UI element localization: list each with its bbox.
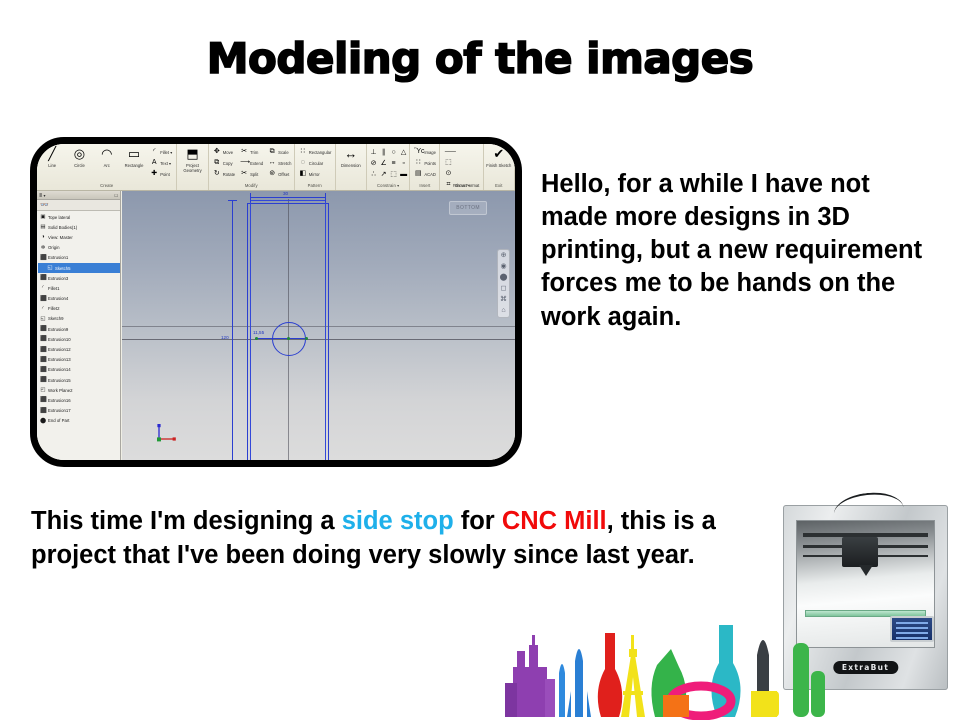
tree-node-label: Extrusion4 bbox=[48, 296, 68, 301]
tree-node[interactable]: ◜Fillet1 bbox=[38, 283, 120, 293]
points-icon: ∷ bbox=[414, 159, 422, 167]
ribbon-panel-body: ↔Dimension bbox=[338, 145, 364, 181]
fillet-button[interactable]: ◜Fillet ▾ bbox=[148, 147, 174, 157]
ribbon-panel-body: ✔Finish Sketch bbox=[486, 145, 512, 181]
ribbon-button-label: Project Geometry bbox=[179, 163, 205, 173]
tree-node-label: Extrusion17 bbox=[48, 408, 71, 413]
browser-panel-title: ≣ ▾ bbox=[39, 193, 45, 198]
ribbon-button-label: Dimension bbox=[341, 163, 361, 168]
circular-pattern-button[interactable]: ◌Circular bbox=[297, 158, 334, 168]
dimension-line-diameter bbox=[255, 338, 307, 339]
ribbon-panel-body: ⬒Project Geometry bbox=[179, 145, 205, 181]
ribbon-panel-body: ⊥∥○△⊘∠≡▫∴↗⬚▬ bbox=[369, 145, 407, 181]
copy-button[interactable]: ⧉Copy bbox=[211, 158, 237, 168]
model-browser-panel[interactable]: ≣ ▾ ☐ 👓 ▣Tope lateral▤Solid Bodies(1)◑Vi… bbox=[37, 191, 121, 460]
tree-node-label: End of Part bbox=[48, 418, 70, 423]
image-icon: Ὓc bbox=[414, 148, 422, 156]
cad-application-window: ╱Line◎Circle◠Arc▭Rectangle◜Fillet ▾AText… bbox=[37, 144, 515, 460]
extrusion-icon: ⬛ bbox=[40, 336, 46, 342]
tree-node-label: Extrusion15 bbox=[48, 378, 71, 383]
ribbon-button-label: ACAD bbox=[424, 172, 436, 177]
end-of-part-icon: ⬤ bbox=[40, 418, 46, 424]
ribbon-panel-body: ╱Line◎Circle◠Arc▭Rectangle◜Fillet ▾AText… bbox=[39, 145, 174, 181]
circular-pattern-icon: ◌ bbox=[299, 159, 307, 167]
extrusion-icon: ⬛ bbox=[40, 397, 46, 403]
acad-icon: ▤ bbox=[414, 170, 422, 178]
ribbon-panel-group-4: ↔Dimension bbox=[336, 144, 367, 190]
printer-brand-logo: ExtraBut bbox=[833, 661, 898, 674]
extrusion-icon: ⬛ bbox=[40, 347, 46, 353]
ribbon-button-column: ✂Trim⟶Extend✂Split bbox=[238, 145, 265, 179]
rotate-button[interactable]: ↻Rotate bbox=[211, 169, 237, 179]
extend-button[interactable]: ⟶Extend bbox=[238, 158, 265, 168]
extrusion-icon: ⬛ bbox=[40, 275, 46, 281]
constraint-icon-11[interactable]: ▬ bbox=[399, 170, 408, 180]
printed-object-cactus-green bbox=[793, 643, 825, 717]
tree-node[interactable]: ◜Fillet2 bbox=[38, 304, 120, 314]
printed-object-eiffel-tower bbox=[621, 635, 645, 717]
offset-icon: ⊚ bbox=[268, 170, 276, 178]
constraint-icon-7[interactable]: ▫ bbox=[399, 159, 408, 169]
dimension-icon: ↔ bbox=[344, 147, 357, 161]
fillet-icon: ◜ bbox=[40, 306, 46, 312]
text-icon: A bbox=[150, 159, 158, 167]
extend-icon: ⟶ bbox=[240, 159, 248, 167]
extrusion-icon: ⬛ bbox=[40, 367, 46, 373]
ribbon-button-label: Extend bbox=[250, 161, 263, 166]
tree-node[interactable]: ▣Tope lateral bbox=[38, 212, 120, 222]
arc-button[interactable]: ◠Arc bbox=[94, 145, 120, 168]
printed-object-block-orange bbox=[663, 695, 689, 717]
sketch-icon: ◱ bbox=[40, 316, 46, 322]
constraint-icon-1[interactable]: ∥ bbox=[379, 148, 388, 158]
dimension-button[interactable]: ↔Dimension bbox=[338, 145, 364, 168]
nav-tool-3-icon[interactable]: ◻ bbox=[501, 285, 507, 293]
fillet-icon: ◜ bbox=[40, 285, 46, 291]
ribbon-panel-label: Pattern bbox=[297, 182, 333, 190]
constraint-icon-0[interactable]: ⊥ bbox=[369, 148, 378, 158]
line-button[interactable]: ╱Line bbox=[39, 145, 65, 168]
navigation-bar[interactable]: ⊕◉⬤◻⌘⌂ bbox=[497, 249, 510, 318]
tree-node[interactable]: ⬛Extrusion13 bbox=[38, 355, 120, 365]
driven-dim-button[interactable]: ⊙ bbox=[442, 169, 481, 179]
circle-button[interactable]: ◎Circle bbox=[66, 145, 92, 168]
ribbon-button-label: Offset bbox=[278, 172, 289, 177]
rectangular-pattern-button[interactable]: ∷Rectangular bbox=[297, 147, 334, 157]
tree-node[interactable]: ⬛Extrusion1 bbox=[38, 253, 120, 263]
ribbon-button-label: Points bbox=[424, 161, 436, 166]
arc-icon: ◠ bbox=[101, 147, 112, 161]
tree-node[interactable]: ⬛Extrusion3 bbox=[38, 273, 120, 283]
tree-node-label: Extrusion3 bbox=[48, 276, 68, 281]
point-button[interactable]: ✚Point bbox=[148, 169, 174, 179]
ribbon-toolbar[interactable]: ╱Line◎Circle◠Arc▭Rectangle◜Fillet ▾AText… bbox=[37, 144, 515, 191]
constraint-icon-9[interactable]: ↗ bbox=[379, 170, 388, 180]
ribbon-button-label: Trim bbox=[250, 150, 258, 155]
text-button[interactable]: AText ▾ bbox=[148, 158, 174, 168]
dimension-value-diameter[interactable]: 11,55 bbox=[253, 330, 264, 335]
view-orientation-label: BOTTOM bbox=[449, 201, 487, 215]
dimension-tick-left bbox=[250, 193, 251, 202]
browser-search-row[interactable]: 👓 bbox=[37, 200, 120, 211]
tree-node[interactable]: ▤Solid Bodies(1) bbox=[38, 222, 120, 232]
tree-node[interactable]: ⬛Extrusion14 bbox=[38, 365, 120, 375]
tree-node-label: Extrusion1 bbox=[48, 255, 68, 260]
ribbon-button-label: Stretch bbox=[278, 161, 291, 166]
tree-node-label: Solid Bodies(1) bbox=[48, 225, 77, 230]
ribbon-panel-body: ∷Rectangular◌Circular◧Mirror bbox=[297, 145, 333, 181]
dimension-value-width[interactable]: 30 bbox=[283, 191, 288, 196]
tree-node[interactable]: ⬛Extrusion17 bbox=[38, 406, 120, 416]
tree-node-label: Fillet1 bbox=[48, 286, 59, 291]
tree-node[interactable]: ⬛Extrusion12 bbox=[38, 344, 120, 354]
constraint-icon-5[interactable]: ∠ bbox=[379, 159, 388, 169]
nav-tool-1-icon[interactable]: ◉ bbox=[500, 263, 506, 271]
ribbon-panel-exit: ✔Finish SketchExit bbox=[484, 144, 515, 190]
tree-node-label: View: Master bbox=[48, 235, 73, 240]
tree-node[interactable]: ◱Sketch5 bbox=[38, 263, 120, 273]
circle-icon: ◎ bbox=[74, 147, 85, 161]
printed-object-basket-yellow bbox=[751, 691, 779, 717]
extrusion-icon: ⬛ bbox=[40, 408, 46, 414]
offset-button[interactable]: ⊚Offset bbox=[266, 169, 293, 179]
ribbon-button-label: Mirror bbox=[309, 172, 320, 177]
point-icon: ✚ bbox=[150, 170, 158, 178]
line-icon: ╱ bbox=[48, 147, 56, 161]
stretch-icon: ↔ bbox=[268, 159, 276, 167]
ribbon-panel-insert: ὛcImage∷Points▤ACADInsert bbox=[410, 144, 440, 190]
project-text-part2: for bbox=[454, 507, 502, 535]
dimension-value-height[interactable]: 120 bbox=[221, 335, 229, 340]
rotate-icon: ↻ bbox=[213, 170, 221, 178]
ribbon-panel-pattern: ∷Rectangular◌Circular◧MirrorPattern bbox=[295, 144, 336, 190]
trim-icon: ✂ bbox=[240, 148, 248, 156]
view-icon: ◑ bbox=[40, 234, 46, 240]
origin-icon: ✲ bbox=[40, 245, 46, 251]
tree-node-label: Sketch5 bbox=[55, 266, 71, 271]
tree-node-label: Extrusion9 bbox=[48, 327, 68, 332]
printed-object-vase-red bbox=[598, 633, 622, 717]
construction-button[interactable]: ⬚ bbox=[442, 158, 481, 168]
driven-dim-icon: ⊙ bbox=[444, 170, 452, 178]
cad-screenshot-card: ╱Line◎Circle◠Arc▭Rectangle◜Fillet ▾AText… bbox=[30, 137, 522, 467]
constraint-icon-6[interactable]: ≡ bbox=[389, 159, 398, 169]
tree-node-label: Extrusion12 bbox=[48, 347, 71, 352]
axis-triad-icon bbox=[154, 420, 180, 444]
ribbon-button-label: Scale bbox=[278, 150, 288, 155]
ribbon-panel-body: ὛcImage∷Points▤ACAD bbox=[412, 145, 437, 181]
tree-node[interactable]: ⬤End of Part bbox=[38, 416, 120, 426]
printer-lcd-screen bbox=[890, 616, 934, 642]
project-geometry-icon: ⬒ bbox=[186, 147, 198, 161]
tree-node[interactable]: ✲Origin bbox=[38, 243, 120, 253]
acad-button[interactable]: ▤ACAD bbox=[412, 169, 438, 179]
tree-node-label: Extrusion14 bbox=[48, 367, 71, 372]
tree-node-label: Work Plane2 bbox=[48, 388, 73, 393]
extrusion-icon: ⬛ bbox=[40, 377, 46, 383]
move-icon: ✥ bbox=[213, 148, 221, 156]
dimension-line-height bbox=[232, 200, 233, 460]
extrusion-icon: ⬛ bbox=[40, 296, 46, 302]
ribbon-button-label: Circular bbox=[309, 161, 323, 166]
ribbon-panel-label bbox=[179, 182, 205, 190]
dimension-tick-top bbox=[228, 200, 237, 201]
ribbon-button-label: Fillet ▾ bbox=[160, 150, 172, 155]
ribbon-button-column: ◜Fillet ▾AText ▾✚Point bbox=[148, 145, 174, 179]
tree-node[interactable]: ⬛Extrusion10 bbox=[38, 334, 120, 344]
ribbon-panel-label: Insert bbox=[412, 182, 437, 190]
construction-icon: ⬚ bbox=[444, 159, 452, 167]
centerline-button[interactable]: ⸺ bbox=[442, 147, 481, 157]
work-plane-icon: ◰ bbox=[40, 387, 46, 393]
highlight-side-stop: side stop bbox=[342, 507, 454, 535]
ribbon-panel-label: Modify bbox=[211, 182, 292, 190]
sketch-point-left[interactable] bbox=[255, 337, 258, 340]
centerline-icon: ⸺ bbox=[444, 148, 452, 156]
printed-object-rocket bbox=[559, 649, 591, 717]
ribbon-button-label: Line bbox=[48, 163, 56, 168]
constraint-icon-3[interactable]: △ bbox=[399, 148, 408, 158]
ribbon-button-label: Text ▾ bbox=[160, 161, 171, 166]
tree-node-label: Extrusion13 bbox=[48, 357, 71, 362]
ribbon-panel-format: ⸺⬚⊙⌗Show FormatFormat ▾ bbox=[440, 144, 483, 190]
ribbon-panel-body: ⸺⬚⊙⌗Show Format bbox=[442, 145, 480, 181]
project-geometry-button[interactable]: ⬒Project Geometry bbox=[179, 145, 205, 173]
ribbon-button-label: Copy bbox=[223, 161, 233, 166]
ribbon-button-label: Arc bbox=[104, 163, 110, 168]
constraint-icon-8[interactable]: ∴ bbox=[369, 170, 378, 180]
sketch-icon: ◱ bbox=[47, 265, 53, 271]
3d-printer-photo: ExtraBut bbox=[505, 500, 960, 720]
extrusion-icon: ⬛ bbox=[40, 255, 46, 261]
ribbon-button-label: Rectangular bbox=[309, 150, 332, 155]
constraint-icon-4[interactable]: ⊘ bbox=[369, 159, 378, 169]
rectangle-button[interactable]: ▭Rectangle bbox=[121, 145, 147, 168]
extrusion-icon: ⬛ bbox=[40, 326, 46, 332]
mirror-icon: ◧ bbox=[299, 170, 307, 178]
ribbon-button-column: ∷Rectangular◌Circular◧Mirror bbox=[297, 145, 334, 179]
image-button[interactable]: ὛcImage bbox=[412, 147, 438, 157]
tree-node[interactable]: ⬛Extrusion4 bbox=[38, 294, 120, 304]
ribbon-button-label: Rotate bbox=[223, 172, 235, 177]
points-button[interactable]: ∷Points bbox=[412, 158, 438, 168]
move-button[interactable]: ✥Move bbox=[211, 147, 237, 157]
nav-tool-5-icon[interactable]: ⌂ bbox=[501, 307, 505, 315]
tree-node-label: Origin bbox=[48, 245, 59, 250]
tree-node-label: Tope lateral bbox=[48, 215, 70, 220]
tree-node[interactable]: ◰Work Plane2 bbox=[38, 385, 120, 395]
ribbon-panel-label: Exit bbox=[486, 182, 512, 190]
sketch-point-right[interactable] bbox=[305, 337, 308, 340]
ribbon-panel-create: ╱Line◎Circle◠Arc▭Rectangle◜Fillet ▾AText… bbox=[37, 144, 177, 190]
ribbon-panel-body: ✥Move⧉Copy↻Rotate✂Trim⟶Extend✂Split⧉Scal… bbox=[211, 145, 292, 181]
extrusion-icon: ⬛ bbox=[40, 357, 46, 363]
scale-button[interactable]: ⧉Scale bbox=[266, 147, 293, 157]
split-button[interactable]: ✂Split bbox=[238, 169, 265, 179]
sketch-point-center[interactable] bbox=[287, 337, 290, 340]
printed-object-castle bbox=[505, 635, 555, 717]
constraint-icon-10[interactable]: ⬚ bbox=[389, 170, 398, 180]
graphics-viewport[interactable]: BOTTOM ⊕◉⬤◻⌘⌂ 30 120 11,55 bbox=[122, 191, 515, 460]
solid-bodies-icon: ▤ bbox=[40, 224, 46, 230]
tree-node[interactable]: ⬛Extrusion9 bbox=[38, 324, 120, 334]
nav-tool-2-icon[interactable]: ⬤ bbox=[500, 274, 508, 282]
copy-icon: ⧉ bbox=[213, 159, 221, 167]
tree-node[interactable]: ⬛Extrusion15 bbox=[38, 375, 120, 385]
page-title: Modeling of the images bbox=[0, 34, 960, 83]
dimension-line-width bbox=[250, 197, 326, 198]
ribbon-panel-label: Format ▾ bbox=[442, 182, 480, 190]
pin-icon[interactable]: ☐ bbox=[114, 193, 118, 198]
tree-node-label: Extrusion10 bbox=[48, 337, 71, 342]
rectangular-pattern-icon: ∷ bbox=[299, 148, 307, 156]
finish-sketch-icon: ✔ bbox=[493, 147, 504, 161]
browser-title-bar: ≣ ▾ ☐ bbox=[37, 191, 120, 200]
project-text-part1: This time I'm designing a bbox=[31, 507, 342, 535]
trim-button[interactable]: ✂Trim bbox=[238, 147, 265, 157]
printer-carriage bbox=[842, 537, 878, 567]
ribbon-panel-group-1: ⬒Project Geometry bbox=[177, 144, 208, 190]
tree-node-label: Sketch9 bbox=[48, 316, 64, 321]
ribbon-button-label: Point bbox=[160, 172, 170, 177]
ribbon-panel-label: Constrain ▾ bbox=[369, 182, 407, 190]
tree-node-label: Extrusion16 bbox=[48, 398, 71, 403]
model-tree[interactable]: ▣Tope lateral▤Solid Bodies(1)◑View: Mast… bbox=[37, 211, 120, 426]
ribbon-button-label: Circle bbox=[74, 163, 85, 168]
dimension-tick-right bbox=[325, 193, 326, 202]
ribbon-button-label: Move bbox=[223, 150, 233, 155]
tree-node[interactable]: ◱Sketch9 bbox=[38, 314, 120, 324]
ribbon-button-column: ✥Move⧉Copy↻Rotate bbox=[211, 145, 237, 179]
slide-canvas: Modeling of the images ╱Line◎Circle◠Arc▭… bbox=[0, 0, 960, 720]
constraint-icon-grid[interactable]: ⊥∥○△⊘∠≡▫∴↗⬚▬ bbox=[369, 145, 408, 180]
ribbon-button-column: ⧉Scale↔Stretch⊚Offset bbox=[266, 145, 293, 179]
constraint-icon-2[interactable]: ○ bbox=[389, 148, 398, 158]
tree-node-label: Fillet2 bbox=[48, 306, 59, 311]
fillet-icon: ◜ bbox=[150, 148, 158, 156]
rectangle-icon: ▭ bbox=[128, 147, 140, 161]
ribbon-panel-label bbox=[338, 182, 364, 190]
ribbon-button-label: Rectangle bbox=[125, 163, 144, 168]
ribbon-panel-label: Create bbox=[39, 182, 174, 190]
nav-tool-4-icon[interactable]: ⌘ bbox=[500, 296, 507, 304]
ribbon-button-label: Split bbox=[250, 172, 258, 177]
split-icon: ✂ bbox=[240, 170, 248, 178]
intro-paragraph: Hello, for a while I have not made more … bbox=[541, 168, 933, 334]
finish-sketch-button[interactable]: ✔Finish Sketch bbox=[486, 145, 512, 168]
nav-tool-0-icon[interactable]: ⊕ bbox=[501, 252, 507, 260]
scale-icon: ⧉ bbox=[268, 148, 276, 156]
tree-node[interactable]: ◑View: Master bbox=[38, 232, 120, 242]
ribbon-button-label: Finish Sketch bbox=[486, 163, 511, 168]
ribbon-panel-constrain: ⊥∥○△⊘∠≡▫∴↗⬚▬Constrain ▾ bbox=[367, 144, 410, 190]
binoculars-icon[interactable]: 👓 bbox=[40, 201, 49, 209]
ribbon-button-column: ὛcImage∷Points▤ACAD bbox=[412, 145, 438, 179]
stretch-button[interactable]: ↔Stretch bbox=[266, 158, 293, 168]
printed-objects-group bbox=[505, 595, 835, 720]
part-icon: ▣ bbox=[40, 214, 46, 220]
mirror-button[interactable]: ◧Mirror bbox=[297, 169, 334, 179]
ribbon-panel-modify: ✥Move⧉Copy↻Rotate✂Trim⟶Extend✂Split⧉Scal… bbox=[209, 144, 295, 190]
ribbon-button-label: Image bbox=[424, 150, 436, 155]
tree-node[interactable]: ⬛Extrusion16 bbox=[38, 395, 120, 405]
printer-nozzle bbox=[859, 565, 873, 576]
